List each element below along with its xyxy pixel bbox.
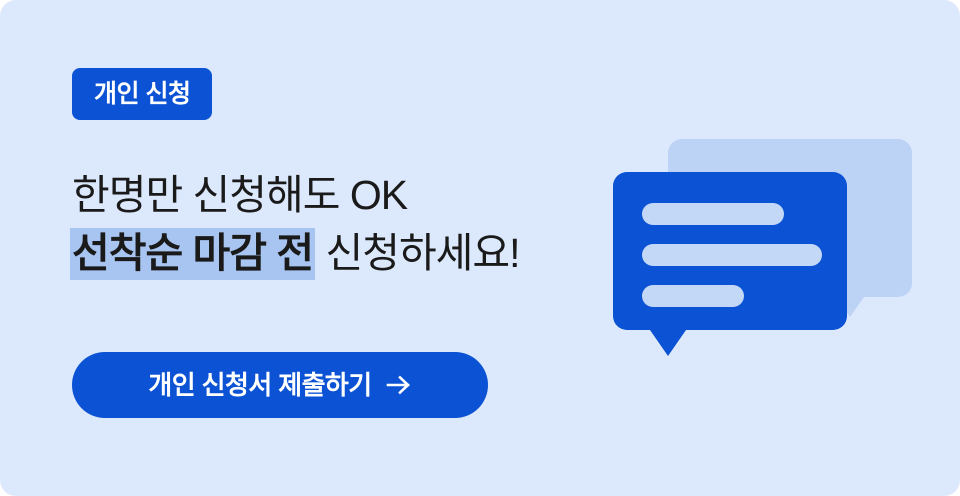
message-line-3-icon: [642, 285, 744, 307]
headline-line-1-text: 한명만 신청해도 OK: [72, 172, 407, 218]
promo-card: 개인 신청 한명만 신청해도 OK 선착순 마감 전 신청하세요! 개인 신청서…: [0, 0, 960, 496]
headline-line-1: 한명만 신청해도 OK: [72, 166, 592, 224]
arrow-right-icon: [386, 374, 412, 396]
headline-line-2-rest: 신청하세요!: [315, 230, 519, 276]
cta-label: 개인 신청서 제출하기: [148, 372, 371, 398]
message-line-1-icon: [642, 203, 784, 225]
front-speech-bubble-icon: [613, 172, 847, 356]
page-title: 한명만 신청해도 OK 선착순 마감 전 신청하세요!: [72, 166, 592, 282]
status-badge: 개인 신청: [72, 68, 212, 120]
chat-bubbles-illustration: [600, 120, 940, 360]
headline-line-2: 선착순 마감 전 신청하세요!: [72, 224, 592, 282]
submit-application-button[interactable]: 개인 신청서 제출하기: [72, 352, 488, 418]
message-line-2-icon: [642, 244, 822, 266]
promo-content: 개인 신청 한명만 신청해도 OK 선착순 마감 전 신청하세요! 개인 신청서…: [72, 0, 592, 496]
headline-highlight-text: 선착순 마감 전: [70, 228, 315, 280]
